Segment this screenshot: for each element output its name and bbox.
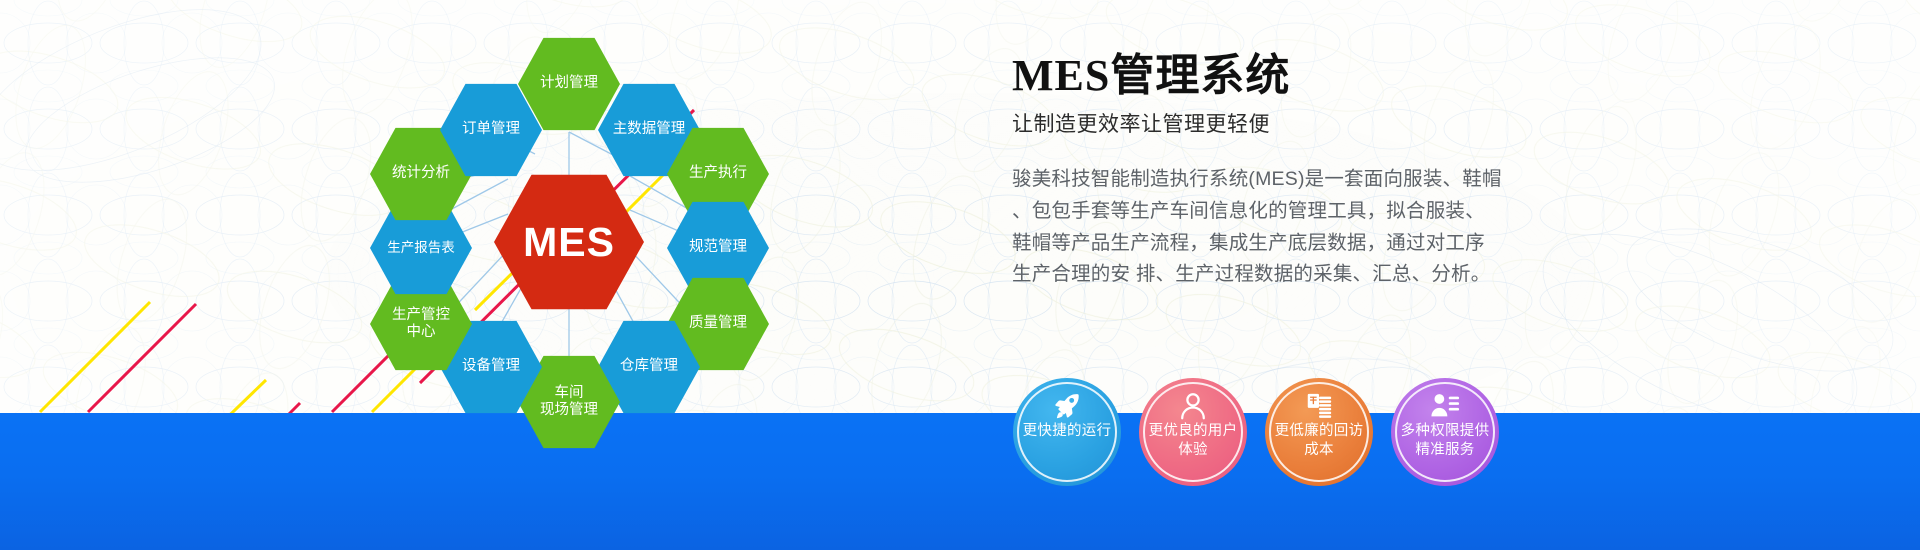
- hex-label: 主数据管理: [613, 121, 686, 138]
- mes-banner: MES 计划管理 主数据管理 生产执行 规范管理 质量管理 仓库管理 车间 现场…: [0, 0, 1920, 550]
- hex-label: 计划管理: [540, 75, 598, 92]
- hex-label: 车间 现场管理: [540, 385, 598, 419]
- badge-multi-permission-service[interactable]: 多种权限提供 精准服务: [1391, 378, 1499, 486]
- badge-label: 更优良的用户 体验: [1146, 422, 1240, 460]
- page-title: MES管理系统: [1012, 52, 1612, 100]
- feature-badges: 更快捷的运行 更优良的用户 体验: [1013, 378, 1499, 486]
- badge-label: 更低廉的回访 成本: [1272, 422, 1366, 460]
- description-line: 、包包手套等生产车间信息化的管理工具，拟合服装、: [1012, 196, 1560, 228]
- badge-faster-operation[interactable]: 更快捷的运行: [1013, 378, 1121, 486]
- badge-lower-revisit-cost[interactable]: 更低廉的回访 成本: [1265, 378, 1373, 486]
- hex-label: 生产执行: [689, 165, 747, 182]
- hex-label: 生产管控 中心: [392, 307, 450, 341]
- page-subtitle: 让制造更效率让管理更轻便: [1012, 108, 1612, 138]
- hex-label: 统计分析: [392, 165, 450, 182]
- badge-label: 多种权限提供 精准服务: [1398, 422, 1492, 460]
- hex-label: 订单管理: [462, 121, 520, 138]
- badge-better-user-experience[interactable]: 更优良的用户 体验: [1139, 378, 1247, 486]
- badge-label: 更快捷的运行: [1020, 422, 1114, 441]
- mes-hexagon-diagram: MES 计划管理 主数据管理 生产执行 规范管理 质量管理 仓库管理 车间 现场…: [330, 14, 810, 434]
- description-block: 骏美科技智能制造执行系统(MES)是一套面向服装、鞋帽 、包包手套等生产车间信息…: [1012, 164, 1560, 290]
- hex-label: 设备管理: [462, 358, 520, 375]
- hex-center-label: MES: [523, 218, 615, 266]
- text-column: MES管理系统 让制造更效率让管理更轻便 骏美科技智能制造执行系统(MES)是一…: [1012, 52, 1612, 291]
- hex-label: 规范管理: [689, 239, 747, 256]
- hex-label: 质量管理: [689, 315, 747, 332]
- description-line: 骏美科技智能制造执行系统(MES)是一套面向服装、鞋帽: [1012, 164, 1560, 196]
- user-icon: [1178, 391, 1208, 421]
- hex-label: 仓库管理: [620, 358, 678, 375]
- description-line: 生产合理的安 排、生产过程数据的采集、汇总、分析。: [1012, 259, 1560, 291]
- bottom-blue-band: [0, 413, 1920, 550]
- money-stack-icon: [1304, 391, 1334, 421]
- description-line: 鞋帽等产品生产流程，集成生产底层数据，通过对工序: [1012, 228, 1560, 260]
- hex-label: 生产报告表: [387, 240, 455, 256]
- rocket-icon: [1052, 391, 1082, 421]
- permissions-icon: [1430, 391, 1460, 421]
